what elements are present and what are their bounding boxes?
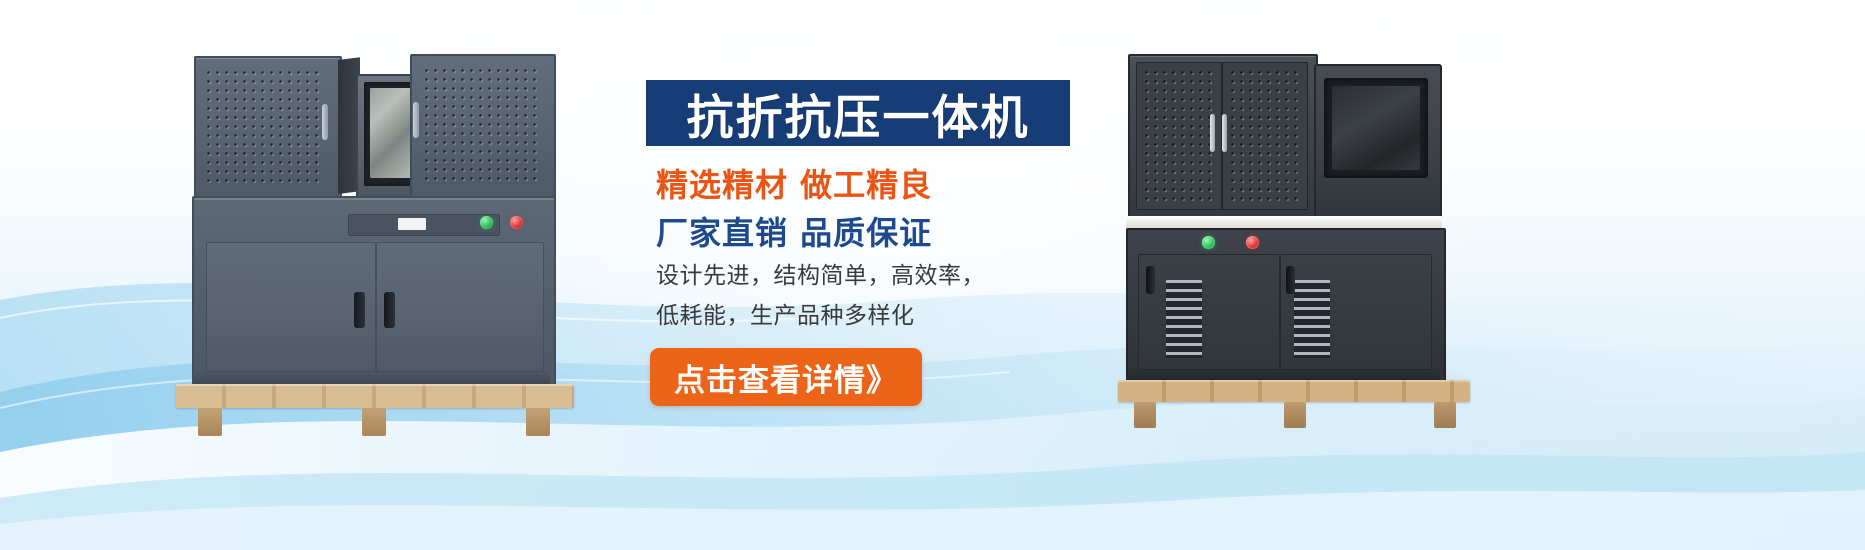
left-lower-door-a [206,242,376,372]
right-upper-door-b-perforation [1228,68,1300,202]
left-green-indicator-lamp [480,216,493,229]
promo-banner: 抗折抗压一体机 精选精材 做工精良 厂家直销 品质保证 设计先进，结构简单，高效… [0,0,1865,550]
right-lower-door-b-handle [1286,266,1295,294]
left-lower-door-b [376,242,544,372]
left-red-indicator-lamp [510,216,523,229]
right-upper-door-a-perforation [1142,68,1214,202]
right-lower-door-b-vent [1294,280,1330,358]
headline-text: 抗折抗压一体机 [646,80,1070,146]
product-image-right [1118,40,1488,430]
right-red-indicator-lamp [1246,236,1259,249]
right-pallet-foot-c [1434,402,1456,428]
left-upper-cabinet-b-handle [413,102,419,138]
subhead-secondary: 厂家直销 品质保证 [656,208,1076,254]
left-pallet-foot-b [362,408,386,436]
right-monitor-screen [1332,86,1420,170]
right-green-indicator-lamp [1202,236,1215,249]
right-pallet-foot-a [1134,402,1156,428]
left-machine-plinth [194,372,550,384]
left-lower-door-a-handle [354,292,365,328]
headline-bar: 抗折抗压一体机 [646,80,1070,146]
view-details-button-label: 点击查看详情》 [674,355,898,400]
right-pallet-foot-b [1284,402,1306,428]
view-details-button[interactable]: 点击查看详情》 [650,348,922,406]
description-line-1: 设计先进，结构简单，高效率， [656,256,1086,296]
left-control-label [398,218,426,230]
left-wooden-pallet-deck [176,384,574,408]
right-machine-plinth [1128,370,1440,380]
right-wooden-pallet-deck [1118,380,1470,402]
product-image-left [170,46,590,426]
left-pallet-foot-a [198,408,222,436]
right-lower-door-a-handle [1146,266,1155,294]
right-upper-door-a-handle [1210,114,1215,152]
promo-text-column: 抗折抗压一体机 精选精材 做工精良 厂家直销 品质保证 设计先进，结构简单，高效… [620,60,1090,490]
description-line-2: 低耗能，生产品种多样化 [656,296,1086,336]
right-lower-door-a [1138,254,1280,370]
left-upper-cabinet-a-perforation [204,68,322,184]
left-pallet-foot-c [526,408,550,436]
right-upper-door-b-handle [1222,114,1227,152]
left-upper-cabinet-b-perforation [422,66,538,184]
right-lower-door-a-vent [1166,280,1202,358]
left-upper-cabinet-a-handle [322,104,328,140]
left-lower-door-b-handle [384,292,395,328]
subhead-primary: 精选精材 做工精良 [656,160,1076,206]
